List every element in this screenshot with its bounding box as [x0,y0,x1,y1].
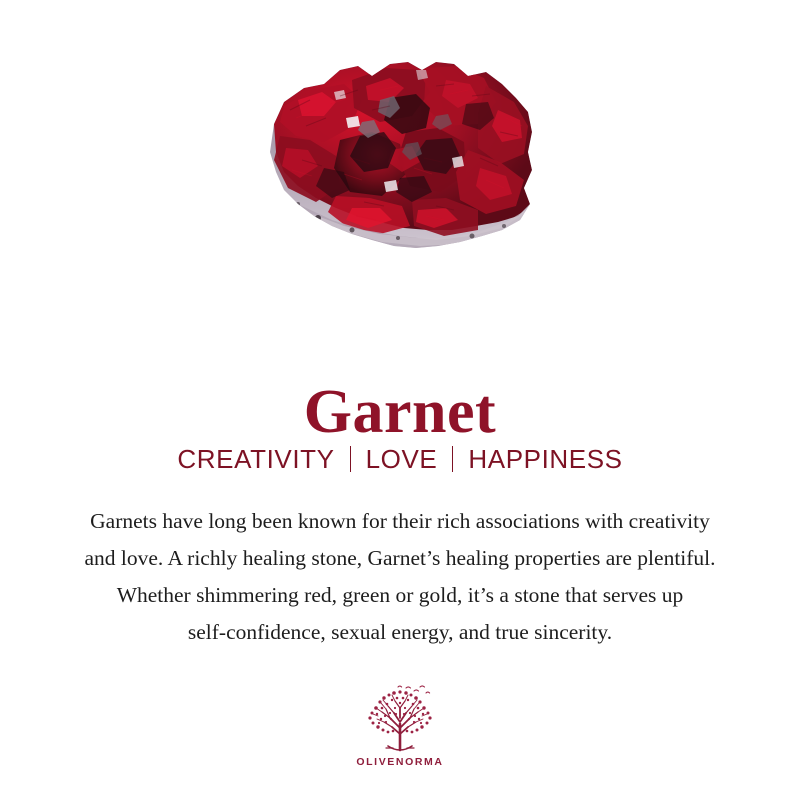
tree-of-life-icon [362,684,438,754]
keyword-separator [452,446,453,472]
keyword-love: LOVE [366,444,438,475]
page-title: Garnet [0,380,800,445]
keyword-creativity: CREATIVITY [177,444,334,475]
keyword-separator [350,446,351,472]
garnet-crystal-illustration [240,40,560,270]
garnet-stone-image [0,0,800,310]
stone-body [274,62,532,250]
gemstone-info-card: Garnet CREATIVITYLOVEHAPPINESS Garnets h… [0,0,800,800]
description-line: and love. A richly healing stone, Garnet… [18,540,782,577]
keyword-happiness: HAPPINESS [468,444,622,475]
keyword-list: CREATIVITYLOVEHAPPINESS [0,444,800,475]
brand-logo: OLIVENORMA [0,684,800,768]
description-line: Garnets have long been known for their r… [18,503,782,540]
bird-glyphs [398,686,430,693]
brand-name: OLIVENORMA [356,756,443,768]
description-line: self-confidence, sexual energy, and true… [18,614,782,651]
description-paragraph: Garnets have long been known for their r… [18,503,782,651]
description-line: Whether shimmering red, green or gold, i… [18,577,782,614]
